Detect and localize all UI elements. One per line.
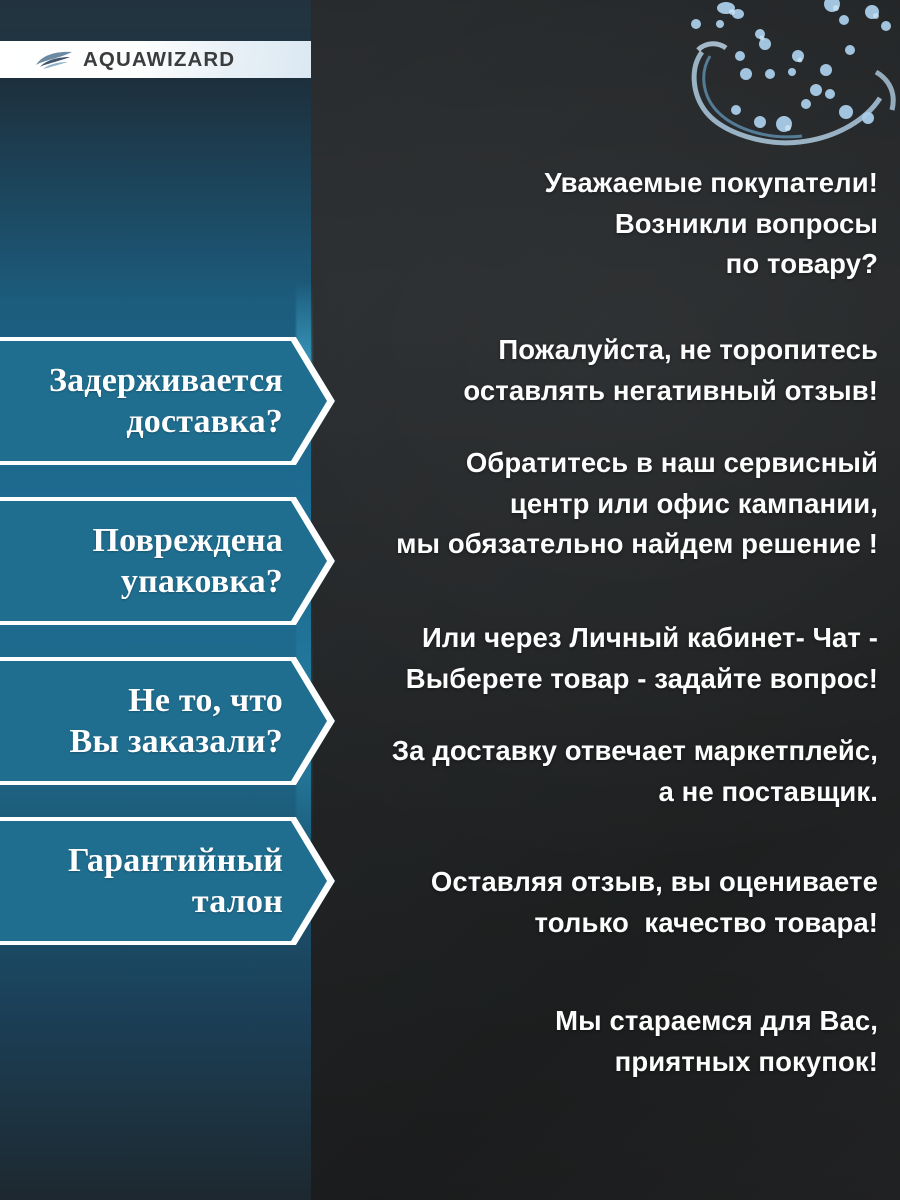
message-review-scope: Оставляя отзыв, вы оцениваете только кач… (318, 862, 878, 943)
tab-line-2: упаковка? (93, 561, 284, 602)
message-closing: Мы стараемся для Вас, приятных покупок! (318, 1001, 878, 1082)
message-greeting: Уважаемые покупатели! Возникли вопросы п… (318, 163, 878, 285)
tab-line-2: талон (68, 881, 283, 922)
message-no-rush-review: Пожалуйста, не торопитесь оставлять нега… (318, 330, 878, 411)
left-panel (0, 78, 311, 1200)
tab-warranty-card[interactable]: Гарантийный талон (0, 817, 335, 945)
tab-line-1: Не то, что (70, 680, 284, 721)
tab-line-1: Гарантийный (68, 840, 283, 881)
panel-edge-glow (296, 78, 312, 1200)
brand-logo-bar[interactable]: AQUAWIZARD (0, 41, 311, 78)
tab-packaging-damaged[interactable]: Повреждена упаковка? (0, 497, 335, 625)
message-contact-service: Обратитесь в наш сервисный центр или офи… (318, 443, 878, 565)
message-delivery-responsibility: За доставку отвечает маркетплейс, а не п… (318, 731, 878, 812)
left-panel-header-strip (0, 0, 311, 42)
water-wave-icon (34, 49, 74, 71)
tab-line-2: доставка? (49, 401, 283, 442)
promo-banner: AQUAWIZARD Задерживается доставка? Повре… (0, 0, 900, 1200)
message-chat-route: Или через Личный кабинет- Чат - Выберете… (318, 618, 878, 699)
tab-wrong-item[interactable]: Не то, что Вы заказали? (0, 657, 335, 785)
tab-delivery-delayed[interactable]: Задерживается доставка? (0, 337, 335, 465)
tab-line-1: Повреждена (93, 520, 284, 561)
tab-line-1: Задерживается (49, 360, 283, 401)
brand-logo-text: AQUAWIZARD (83, 48, 235, 72)
water-splash-icon (640, 0, 900, 164)
tab-line-2: Вы заказали? (70, 721, 284, 762)
